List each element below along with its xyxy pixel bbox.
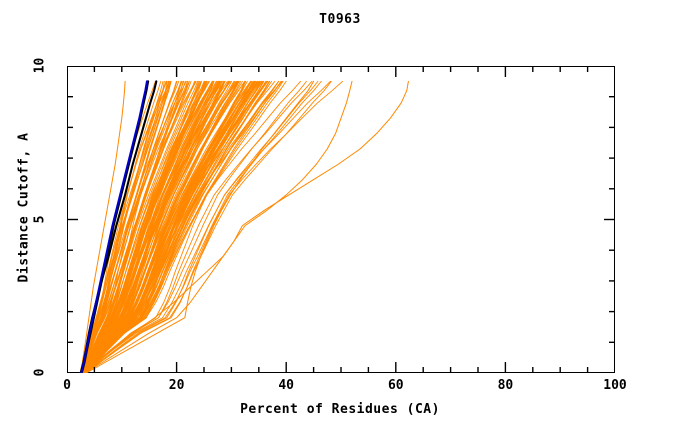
page-title: T0963: [0, 12, 680, 27]
x-tick-label-40: 40: [278, 378, 294, 393]
x-tick-label-80: 80: [498, 378, 514, 393]
y-tick-label-0: 0: [33, 358, 48, 388]
y-axis-title: Distance Cutoff, A: [17, 98, 32, 318]
x-tick-label-20: 20: [169, 378, 185, 393]
x-tick-label-0: 0: [63, 378, 71, 393]
y-tick-label-10: 10: [33, 51, 48, 81]
y-tick-label-5: 5: [33, 204, 48, 234]
data-curves: [67, 66, 615, 373]
chart-page: T0963 020406080100 0510 Percent of Resid…: [0, 0, 680, 440]
x-tick-label-100: 100: [603, 378, 626, 393]
plot-area: [67, 66, 615, 373]
x-axis-title: Percent of Residues (CA): [0, 402, 680, 417]
x-tick-label-60: 60: [388, 378, 404, 393]
